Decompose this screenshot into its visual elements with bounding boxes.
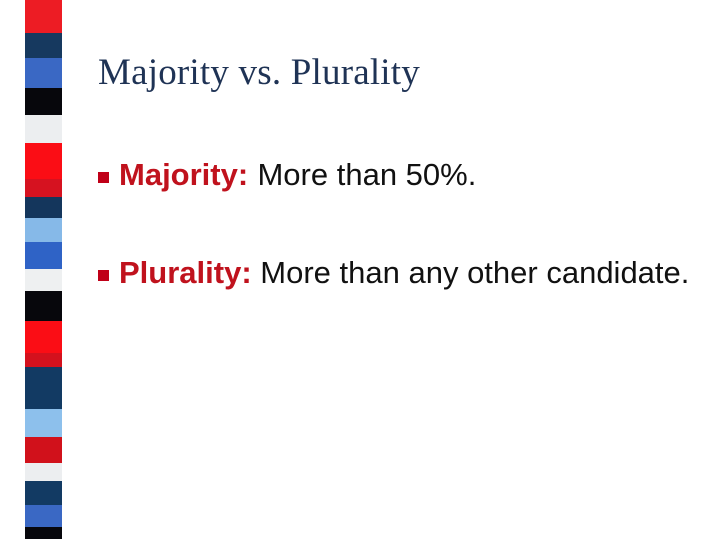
page-title: Majority vs. Plurality (98, 52, 420, 93)
stripe-segment (25, 291, 62, 321)
bullet-body-text: More than 50%. (257, 157, 476, 192)
square-bullet-icon (98, 172, 109, 183)
square-bullet-icon (98, 270, 109, 281)
bullet-list: Majority:More than 50%. Plurality: More … (98, 155, 698, 292)
bullet-text: Plurality: More than any other candidate… (119, 253, 698, 293)
list-item: Majority:More than 50%. (98, 155, 698, 195)
stripe-segment (25, 505, 62, 527)
stripe-segment (25, 269, 62, 291)
stripe-segment (25, 197, 62, 218)
stripe-segment (25, 143, 62, 179)
stripe-segment (25, 242, 62, 269)
bullet-lead-term: Plurality: (119, 255, 252, 290)
stripe-segment (25, 0, 62, 33)
stripe-segment (25, 481, 62, 505)
stripe-segment (25, 527, 62, 539)
stripe-segment (25, 367, 62, 409)
stripe-segment (25, 115, 62, 143)
stripe-segment (25, 353, 62, 367)
stripe-segment (25, 88, 62, 115)
slide-canvas: Majority vs. Plurality Majority:More tha… (0, 0, 720, 539)
vertical-stripe-band (25, 0, 62, 539)
stripe-segment (25, 33, 62, 58)
stripe-segment (25, 409, 62, 437)
stripe-segment (25, 437, 62, 463)
stripe-segment (25, 179, 62, 197)
stripe-segment (25, 321, 62, 353)
stripe-segment (25, 218, 62, 242)
stripe-segment (25, 463, 62, 481)
stripe-segment (25, 58, 62, 88)
list-item: Plurality: More than any other candidate… (98, 253, 698, 293)
bullet-body-text: More than any other candidate. (260, 255, 689, 290)
bullet-lead-term: Majority: (119, 157, 248, 192)
bullet-text: Majority:More than 50%. (119, 155, 698, 195)
